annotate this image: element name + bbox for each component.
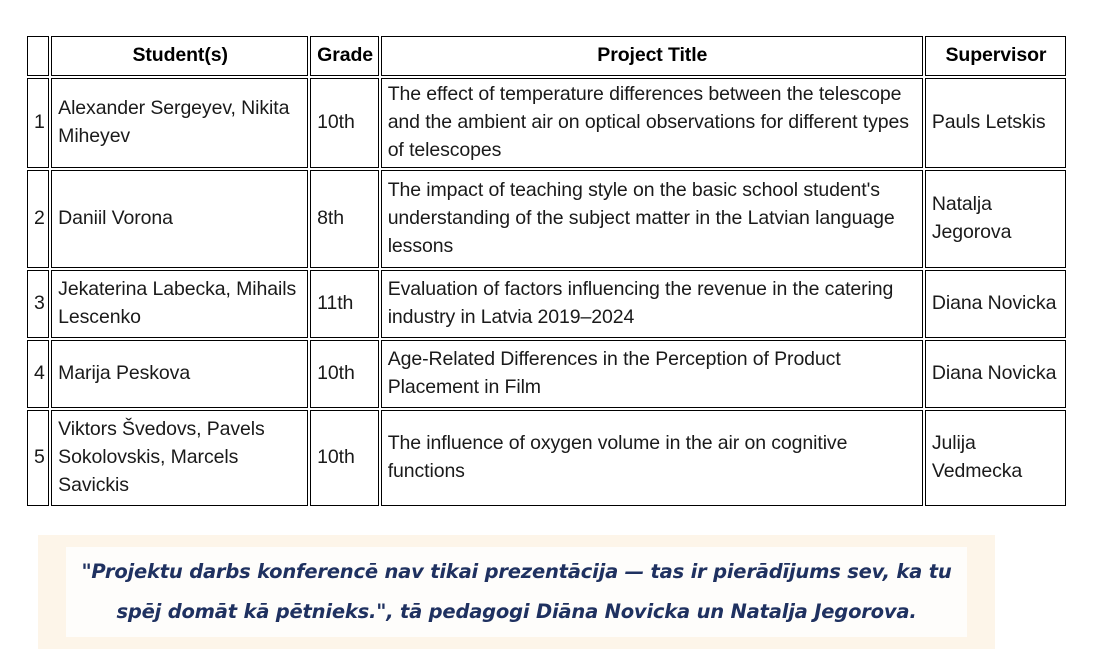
cell-grade: 10th [310,410,379,506]
cell-students: Alexander Sergeyev, Nikita Miheyev [51,78,308,168]
projects-table-container: Student(s) Grade Project Title Superviso… [25,34,1068,508]
projects-table: Student(s) Grade Project Title Superviso… [25,34,1068,508]
table-row: 1 Alexander Sergeyev, Nikita Miheyev 10t… [27,78,1066,168]
table-row: 4 Marija Peskova 10th Age-Related Differ… [27,340,1066,408]
cell-project-title: The effect of temperature differences be… [381,78,923,168]
cell-students: Viktors Švedovs, Pavels Sokolovskis, Mar… [51,410,308,506]
cell-supervisor: Diana Novicka [925,340,1066,408]
cell-project-title: The impact of teaching style on the basi… [381,170,923,268]
quote-band: "Projektu darbs konferencē nav tikai pre… [38,535,995,649]
column-header-supervisor: Supervisor [925,36,1066,76]
table-body: 1 Alexander Sergeyev, Nikita Miheyev 10t… [27,78,1066,506]
row-index: 1 [27,78,49,168]
cell-grade: 10th [310,340,379,408]
table-header: Student(s) Grade Project Title Superviso… [27,36,1066,76]
column-header-grade: Grade [310,36,379,76]
table-header-row: Student(s) Grade Project Title Superviso… [27,36,1066,76]
row-index: 4 [27,340,49,408]
row-index: 3 [27,270,49,338]
column-header-students: Student(s) [51,36,308,76]
cell-supervisor: Diana Novicka [925,270,1066,338]
cell-grade: 8th [310,170,379,268]
cell-grade: 10th [310,78,379,168]
table-row: 3 Jekaterina Labecka, Mihails Lescenko 1… [27,270,1066,338]
row-index: 5 [27,410,49,506]
table-row: 5 Viktors Švedovs, Pavels Sokolovskis, M… [27,410,1066,506]
cell-students: Jekaterina Labecka, Mihails Lescenko [51,270,308,338]
column-header-project-title: Project Title [381,36,923,76]
cell-project-title: Age-Related Differences in the Perceptio… [381,340,923,408]
cell-grade: 11th [310,270,379,338]
cell-project-title: The influence of oxygen volume in the ai… [381,410,923,506]
cell-supervisor: Natalja Jegorova [925,170,1066,268]
quote-box: "Projektu darbs konferencē nav tikai pre… [66,547,967,637]
cell-supervisor: Julija Vedmecka [925,410,1066,506]
cell-project-title: Evaluation of factors influencing the re… [381,270,923,338]
cell-students: Daniil Vorona [51,170,308,268]
column-header-index [27,36,49,76]
cell-students: Marija Peskova [51,340,308,408]
quote-line-2: spēj domāt kā pētnieks.", tā pedagogi Di… [116,597,916,627]
table-row: 2 Daniil Vorona 8th The impact of teachi… [27,170,1066,268]
cell-supervisor: Pauls Letskis [925,78,1066,168]
row-index: 2 [27,170,49,268]
quote-line-1: "Projektu darbs konferencē nav tikai pre… [81,557,951,587]
